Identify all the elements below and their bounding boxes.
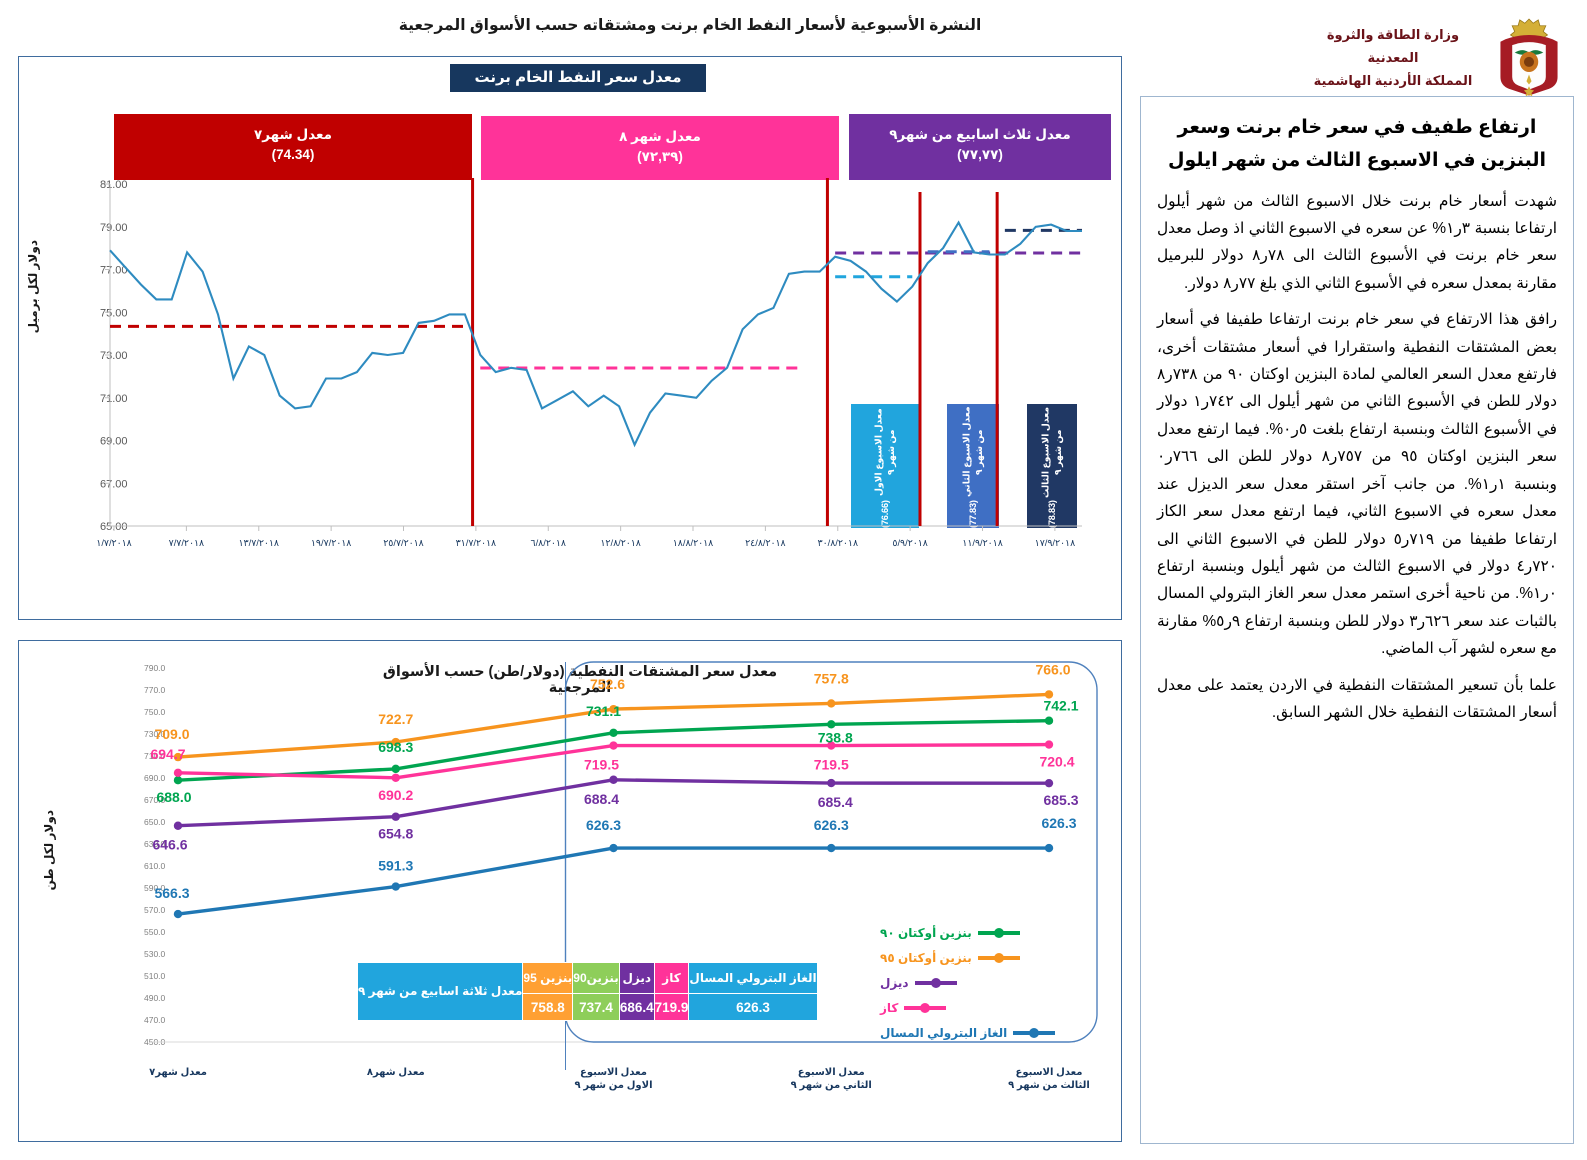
svg-text:570.0: 570.0 [144,905,166,915]
svg-text:770.0: 770.0 [144,685,166,695]
svg-text:١٩/٧/٢٠١٨: ١٩/٧/٢٠١٨ [311,537,351,548]
products-x-label-0: معدل شهر٧ [88,1066,268,1079]
svg-text:690.0: 690.0 [144,773,166,783]
svg-text:790.0: 790.0 [144,663,166,673]
svg-text:626.3: 626.3 [814,817,849,833]
svg-text:698.3: 698.3 [378,739,413,755]
svg-text:٥/٩/٢٠١٨: ٥/٩/٢٠١٨ [892,537,927,548]
svg-text:٢٥/٧/٢٠١٨: ٢٥/٧/٢٠١٨ [383,537,423,548]
legend-swatch-1 [978,956,1020,960]
svg-text:566.3: 566.3 [154,885,189,901]
svg-text:٣٠/٨/٢٠١٨: ٣٠/٨/٢٠١٨ [818,537,858,548]
svg-text:470.0: 470.0 [144,1015,166,1025]
svg-text:79.00: 79.00 [100,222,128,234]
svg-text:٢٤/٨/٢٠١٨: ٢٤/٨/٢٠١٨ [745,537,785,548]
month-average-box-september: معدل ثلاث اسابيع من شهر٩ (٧٧,٧٧) [849,114,1111,180]
svg-text:591.3: 591.3 [378,858,413,874]
products-x-label-4: معدل الاسبوع الثالث من شهر ٩ [1006,1066,1092,1092]
products-summary-table: الغاز البترولي المسال كاز ديزل بنزين90 ب… [357,962,818,1021]
legend-item-0: بنزين أوكتان ٩٠ [880,920,1090,945]
month-average-box-august: معدل شهر ٨ (٧٢,٣٩) [481,116,839,180]
legend-swatch-0 [978,931,1020,935]
legend-label-0: بنزين أوكتان ٩٠ [880,926,972,940]
legend-label-1: بنزين أوكتان ٩٥ [880,951,972,965]
brent-price-plot: 65.0067.0069.0071.0073.0075.0077.0079.00… [50,178,1090,578]
svg-text:٣١/٧/٢٠١٨: ٣١/٧/٢٠١٨ [456,537,496,548]
month-average-label-august: معدل شهر ٨ [481,127,839,147]
svg-text:١٣/٧/٢٠١٨: ١٣/٧/٢٠١٨ [239,537,279,548]
svg-text:626.3: 626.3 [586,817,621,833]
products-y-axis-title: دولار لكل طن [42,810,64,890]
month-average-value-july: (74.34) [114,145,472,165]
legend-item-3: كاز [880,995,1090,1020]
ministry-line-1: وزارة الطاقة والثروة المعدنية [1303,24,1483,70]
brent-period-separators [473,178,998,526]
svg-text:75.00: 75.00 [100,307,128,319]
svg-text:١/٧/٢٠١٨: ١/٧/٢٠١٨ [96,537,131,548]
legend-item-4: الغاز البترولي المسال [880,1020,1090,1045]
bulletin-title: النشرة الأسبوعية لأسعار النفط الخام برنت… [370,14,1010,38]
svg-text:719.5: 719.5 [814,757,849,773]
svg-text:738.8: 738.8 [818,729,853,745]
products-y-axis: 790.0770.0750.0730.0710.0690.0670.0650.0… [144,663,166,1047]
products-x-label-3: معدل الاسبوع الثاني من شهر ٩ [788,1066,874,1092]
brent-axis-lines [110,184,1082,526]
svg-text:610.0: 610.0 [144,861,166,871]
table-row-header-label: معدل ثلاثة اسابيع من شهر ٩ [358,963,523,1021]
svg-text:81.00: 81.00 [100,179,128,191]
svg-text:766.0: 766.0 [1035,661,1070,677]
svg-text:٦/٨/٢٠١٨: ٦/٨/٢٠١٨ [531,537,566,548]
month-average-value-september: (٧٧,٧٧) [849,145,1111,165]
svg-text:752.6: 752.6 [590,676,625,692]
svg-text:١٢/٨/٢٠١٨: ١٢/٨/٢٠١٨ [600,537,640,548]
legend-item-1: بنزين أوكتان ٩٥ [880,945,1090,970]
table-value-lpg: 626.3 [689,994,817,1021]
table-header-lpg: الغاز البترولي المسال [689,963,817,994]
commentary-heading: ارتفاع طفيف في سعر خام برنت وسعر البنزين… [1159,111,1555,178]
svg-text:٧/٧/٢٠١٨: ٧/٧/٢٠١٨ [169,537,204,548]
svg-text:510.0: 510.0 [144,971,166,981]
svg-text:750.0: 750.0 [144,707,166,717]
legend-label-4: الغاز البترولي المسال [880,1026,1007,1040]
legend-swatch-4 [1013,1031,1055,1035]
svg-text:688.0: 688.0 [156,789,191,805]
ministry-branding: وزارة الطاقة والثروة المعدنية المملكة ال… [1295,14,1575,94]
svg-text:685.4: 685.4 [818,794,853,810]
brent-x-axis: ١/٧/٢٠١٨٧/٧/٢٠١٨١٣/٧/٢٠١٨١٩/٧/٢٠١٨٢٥/٧/٢… [96,526,1075,548]
table-value-gasoline95: 758.8 [523,994,573,1021]
table-value-diesel: 686.4 [619,994,654,1021]
svg-text:688.4: 688.4 [584,791,619,807]
brent-chart-title: معدل سعر النفط الخام برنت [450,64,706,92]
svg-text:626.3: 626.3 [1041,815,1076,831]
table-header-gasoline90: بنزين90 [573,963,620,994]
svg-text:١٧/٩/٢٠١٨: ١٧/٩/٢٠١٨ [1035,537,1075,548]
table-header-diesel: ديزل [619,963,654,994]
brent-y-axis-title: دولار لكل برميل [26,240,48,333]
svg-text:719.5: 719.5 [584,757,619,773]
svg-text:731.1: 731.1 [586,703,621,719]
month-average-label-july: معدل شهر٧ [114,125,472,145]
products-x-label-2: معدل الاسبوع الاول من شهر ٩ [571,1066,657,1092]
svg-text:69.00: 69.00 [100,436,128,448]
svg-text:654.8: 654.8 [378,826,413,842]
table-value-kerosene: 719.9 [654,994,689,1021]
svg-text:757.8: 757.8 [814,670,849,686]
ministry-name: وزارة الطاقة والثروة المعدنية المملكة ال… [1303,24,1483,92]
products-x-label-1: معدل شهر٨ [306,1066,486,1079]
svg-text:71.00: 71.00 [100,393,128,405]
table-header-gasoline95: بنزين 95 [523,963,573,994]
month-average-box-july: معدل شهر٧ (74.34) [114,114,472,180]
svg-text:694.7: 694.7 [150,746,185,762]
legend-label-2: ديزل [880,976,909,990]
products-legend: بنزين أوكتان ٩٠بنزين أوكتان ٩٥ديزلكازالغ… [880,920,1090,1045]
svg-text:709.0: 709.0 [154,726,189,742]
table-value-gasoline90: 737.4 [573,994,620,1021]
svg-text:١٨/٨/٢٠١٨: ١٨/٨/٢٠١٨ [673,537,713,548]
svg-text:67.00: 67.00 [100,478,128,490]
jordan-coat-of-arms-icon [1487,14,1571,98]
svg-text:722.7: 722.7 [378,711,413,727]
svg-text:650.0: 650.0 [144,817,166,827]
commentary-paragraph-2: رافق هذا الارتفاع في سعر خام برنت ارتفاع… [1157,306,1557,662]
svg-text:١١/٩/٢٠١٨: ١١/٩/٢٠١٨ [962,537,1002,548]
legend-swatch-2 [915,981,957,985]
month-average-label-september: معدل ثلاث اسابيع من شهر٩ [849,125,1111,145]
brent-reference-lines [110,230,1082,368]
table-row-headers: الغاز البترولي المسال كاز ديزل بنزين90 ب… [358,963,818,994]
svg-text:73.00: 73.00 [100,350,128,362]
brent-price-series [110,223,1082,445]
svg-text:742.1: 742.1 [1043,698,1078,714]
commentary-paragraph-3: علما بأن تسعير المشتقات النفطية في الارد… [1157,672,1557,727]
commentary-panel: ارتفاع طفيف في سعر خام برنت وسعر البنزين… [1140,96,1574,1144]
legend-swatch-3 [904,1006,946,1010]
month-average-value-august: (٧٢,٣٩) [481,147,839,167]
svg-text:690.2: 690.2 [378,787,413,803]
commentary-paragraph-1: شهدت أسعار خام برنت خلال الاسبوع الثالث … [1157,188,1557,298]
legend-label-3: كاز [880,1001,898,1015]
ministry-line-2: المملكة الأردنية الهاشمية [1303,70,1483,93]
table-header-kerosene: كاز [654,963,689,994]
legend-item-2: ديزل [880,970,1090,995]
svg-text:530.0: 530.0 [144,949,166,959]
svg-text:720.4: 720.4 [1039,754,1074,770]
brent-y-axis: 65.0067.0069.0071.0073.0075.0077.0079.00… [100,179,128,533]
svg-text:550.0: 550.0 [144,927,166,937]
svg-text:646.6: 646.6 [152,837,187,853]
svg-text:685.3: 685.3 [1043,792,1078,808]
svg-text:490.0: 490.0 [144,993,166,1003]
